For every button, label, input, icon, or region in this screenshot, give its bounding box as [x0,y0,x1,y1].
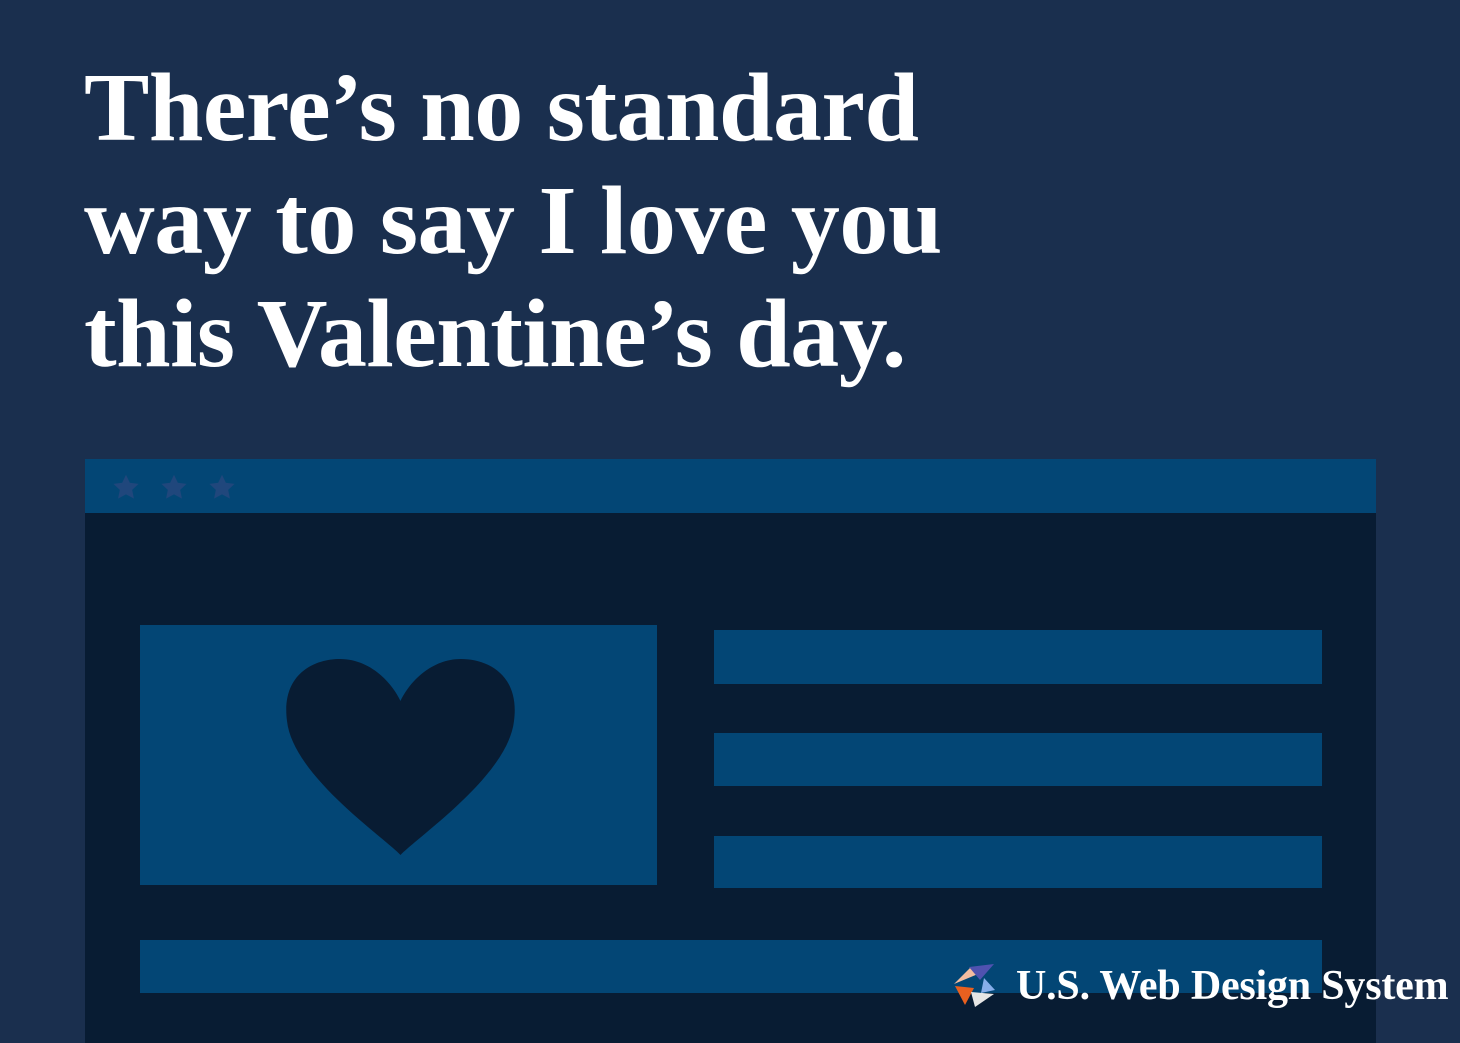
uswds-wordmark: U.S. Web Design System [1016,964,1448,1008]
browser-mockup-window [85,459,1376,1043]
text-bar [714,836,1322,888]
media-placeholder [140,625,657,885]
text-bar [714,733,1322,786]
page-title: There’s no standard way to say I love yo… [84,52,1204,391]
star-icon [112,473,140,501]
uswds-logo: U.S. Web Design System [948,958,1448,1014]
star-icon [160,473,188,501]
text-bar [714,630,1322,684]
browser-titlebar [85,459,1376,513]
poster-canvas: There’s no standard way to say I love yo… [0,0,1460,1043]
star-icon [208,473,236,501]
titlebar-controls [112,473,236,501]
uswds-pinwheel-icon [948,958,1004,1014]
heart-icon [285,659,516,855]
